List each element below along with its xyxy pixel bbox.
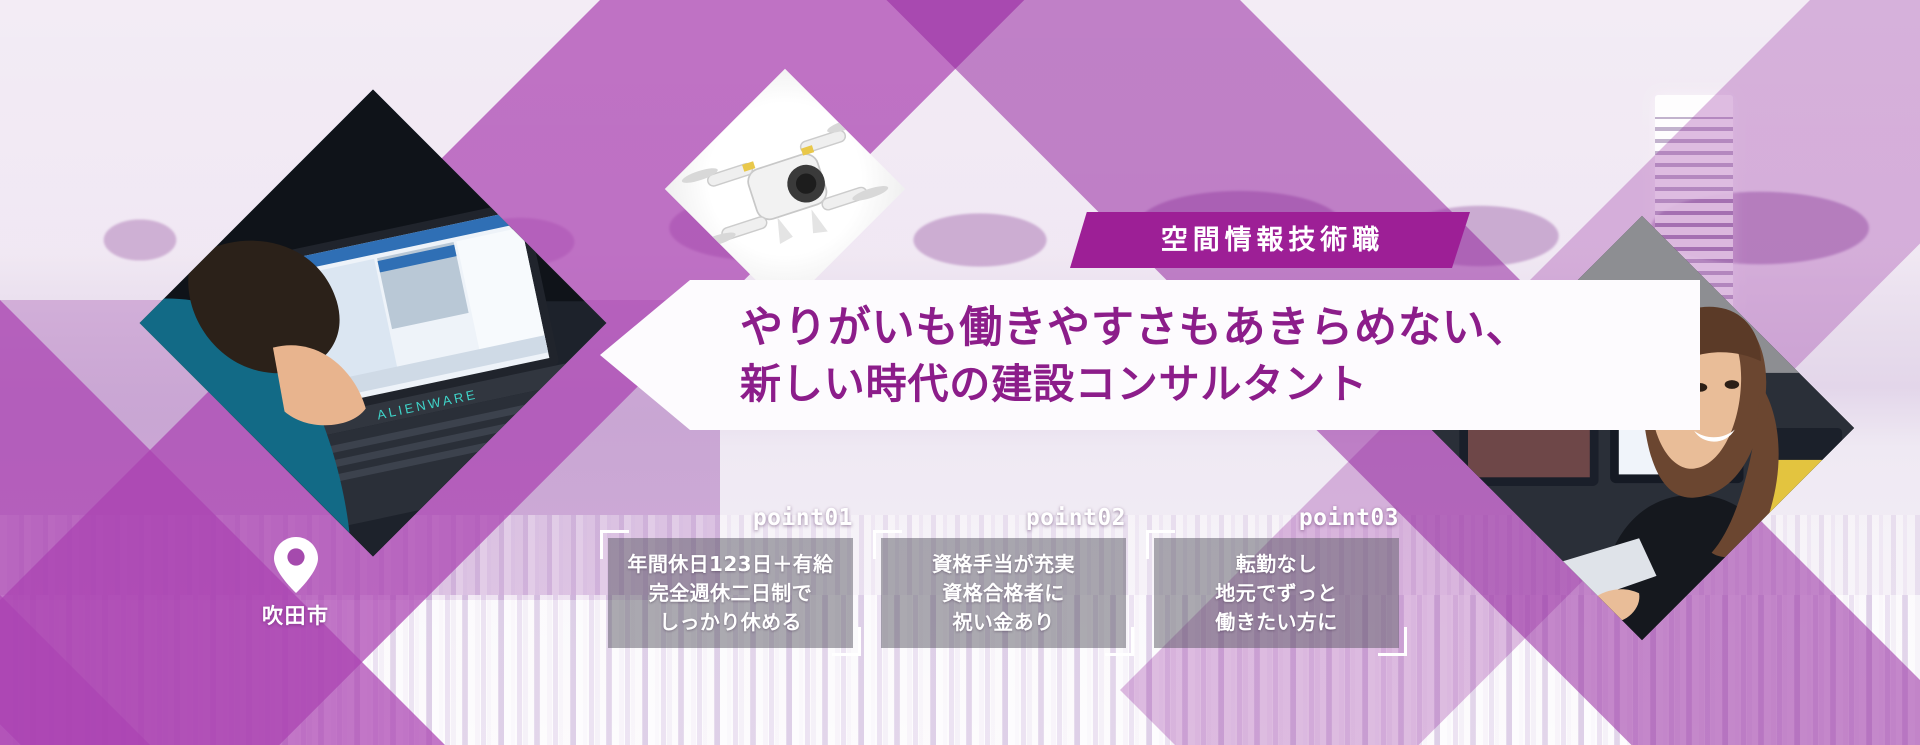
point-box: 転勤なし 地元でずっと 働きたい方に — [1154, 538, 1399, 648]
point-number-label: point02 — [1026, 505, 1126, 531]
point-number-label: point03 — [1299, 505, 1399, 531]
point-text-line: 年間休日123日＋有給 — [627, 551, 833, 577]
corner-triangle-accent — [0, 595, 150, 745]
point-card: point02 資格手当が充実 資格合格者に 祝い金あり — [881, 538, 1126, 648]
headline-line-1: やりがいも働きやすさもあきらめない、 — [740, 300, 1680, 357]
point-text-line: 資格手当が充実 — [932, 551, 1075, 577]
location-marker: 吹田市 — [262, 536, 329, 630]
point-text-line: 働きたい方に — [1215, 609, 1337, 635]
point-box: 年間休日123日＋有給 完全週休二日制で しっかり休める — [608, 538, 853, 648]
point-box: 資格手当が充実 資格合格者に 祝い金あり — [881, 538, 1126, 648]
map-pin-icon — [273, 536, 319, 594]
page-title: やりがいも働きやすさもあきらめない、 新しい時代の建設コンサルタント — [740, 300, 1680, 411]
point-text-line: 祝い金あり — [953, 609, 1055, 635]
job-category-label: 空間情報技術職 — [1156, 227, 1384, 254]
point-text-line: 地元でずっと — [1215, 580, 1337, 606]
point-text-line: 資格合格者に — [942, 580, 1064, 606]
point-card: point01 年間休日123日＋有給 完全週休二日制で しっかり休める — [608, 538, 853, 648]
headline-line-2: 新しい時代の建設コンサルタント — [740, 357, 1680, 411]
location-label: 吹田市 — [262, 600, 329, 630]
benefit-points-list: point01 年間休日123日＋有給 完全週休二日制で しっかり休める poi… — [608, 538, 1399, 648]
job-category-ribbon: 空間情報技術職 — [1070, 212, 1470, 268]
hero-banner: ALIENWARE — [0, 0, 1920, 745]
point-text-line: しっかり休める — [659, 609, 802, 635]
point-text-line: 転勤なし — [1236, 551, 1318, 577]
point-card: point03 転勤なし 地元でずっと 働きたい方に — [1154, 538, 1399, 648]
point-text-line: 完全週休二日制で — [649, 580, 812, 606]
point-number-label: point01 — [753, 505, 853, 531]
